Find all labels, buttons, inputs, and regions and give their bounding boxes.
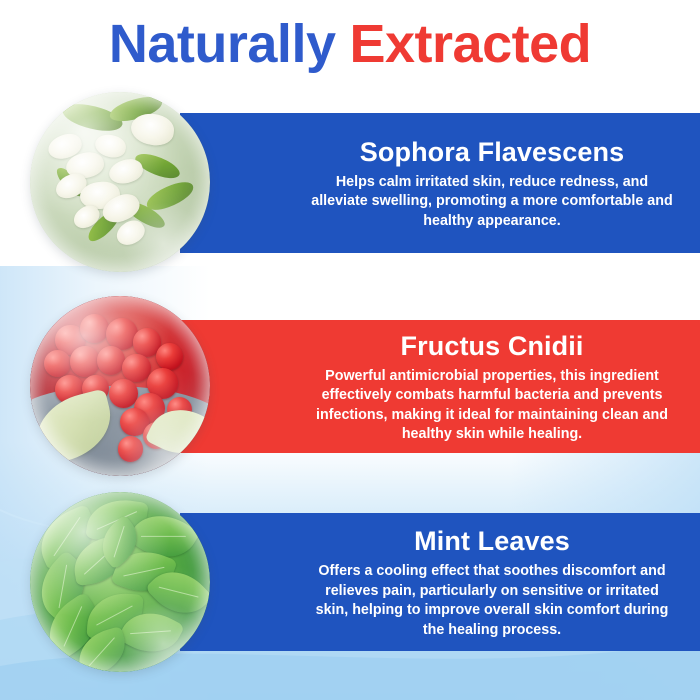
title-word-extracted: Extracted <box>349 14 591 74</box>
ingredient-image-mint-leaves <box>30 492 210 672</box>
infographic-poster: NaturallyExtracted Sophora Flavescens He… <box>0 0 700 700</box>
bubble-gloss-3 <box>30 492 210 672</box>
ingredient-image-fructus-cnidii <box>30 296 210 476</box>
card-title-2: Fructus Cnidii <box>401 329 584 363</box>
title-word-naturally: Naturally <box>109 14 336 74</box>
page-title: NaturallyExtracted <box>0 12 700 76</box>
card-bar-3: Mint Leaves Offers a cooling effect that… <box>180 513 700 651</box>
bubble-gloss-2 <box>30 296 210 476</box>
card-description-2: Powerful antimicrobial properties, this … <box>310 367 674 445</box>
card-title-3: Mint Leaves <box>414 524 570 558</box>
bubble-gloss-1 <box>30 92 210 272</box>
card-bar-1: Sophora Flavescens Helps calm irritated … <box>180 113 700 253</box>
card-title-1: Sophora Flavescens <box>360 135 624 169</box>
card-bar-2: Fructus Cnidii Powerful antimicrobial pr… <box>180 320 700 453</box>
card-description-1: Helps calm irritated skin, reduce rednes… <box>310 173 674 232</box>
ingredient-image-sophora-flavescens <box>30 92 210 272</box>
card-description-3: Offers a cooling effect that soothes dis… <box>310 562 674 640</box>
